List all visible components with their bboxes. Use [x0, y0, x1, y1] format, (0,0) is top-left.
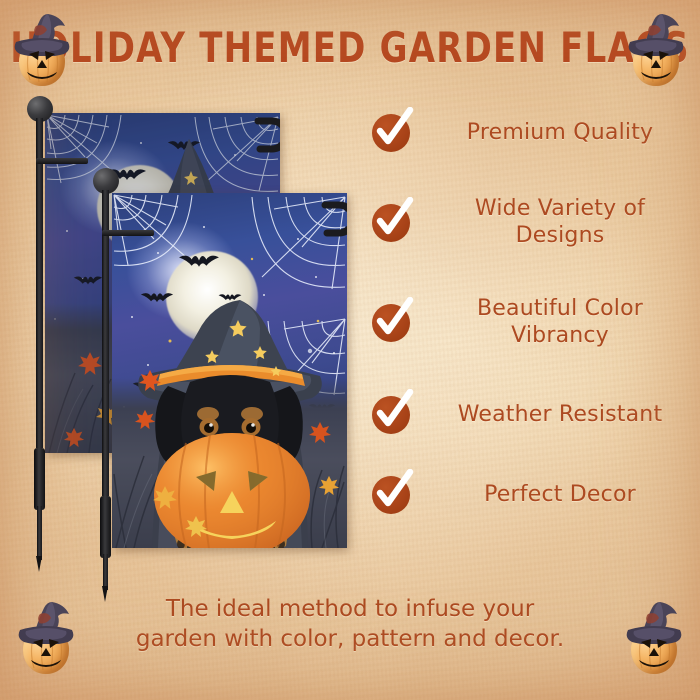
- jack-o-lantern-witch-hat-icon: [620, 12, 692, 92]
- check-mark-icon: [369, 389, 415, 435]
- check-mark-icon: [369, 297, 415, 343]
- check-circle-icon: [370, 474, 412, 516]
- jack-o-lantern-face: [633, 46, 679, 84]
- jack-o-lantern-witch-hat-icon: [618, 600, 690, 680]
- check-circle-icon: [370, 302, 412, 344]
- garden-flag-pole-front: [88, 168, 128, 588]
- jack-o-lantern-face: [19, 46, 65, 84]
- feature-label: Beautiful Color Vibrancy: [428, 296, 692, 350]
- pole-arm: [102, 230, 154, 236]
- check-circle-icon: [370, 202, 412, 244]
- pole-ground-grip: [34, 448, 45, 510]
- autumn-leaf-icon: [152, 485, 178, 511]
- check-mark-icon: [369, 107, 415, 153]
- jack-o-lantern-face: [631, 634, 677, 672]
- bat-icon: [178, 251, 220, 270]
- footer-line-2: garden with color, pattern and decor.: [64, 624, 636, 654]
- list-item: Perfect Decor: [370, 460, 692, 530]
- pole-tip: [36, 556, 42, 572]
- list-item: Weather Resistant: [370, 376, 692, 454]
- footer-caption: The ideal method to infuse your garden w…: [64, 594, 636, 655]
- check-circle-icon: [370, 112, 412, 154]
- autumn-leaf-icon: [318, 475, 340, 497]
- autumn-leaf-icon: [134, 409, 156, 431]
- footer-line-1: The ideal method to infuse your: [64, 594, 636, 624]
- feature-label: Weather Resistant: [428, 402, 692, 429]
- pole-shaft: [36, 118, 43, 448]
- flag-hanger-icon: [254, 115, 280, 159]
- garden-flag-pole-back: [22, 96, 62, 566]
- check-circle-icon: [370, 394, 412, 436]
- check-mark-icon: [369, 197, 415, 243]
- feature-label: Perfect Decor: [428, 482, 692, 509]
- jack-o-lantern-witch-hat-icon: [6, 12, 78, 92]
- jack-o-lantern-face: [23, 634, 69, 672]
- pole-ground-grip: [100, 496, 111, 558]
- pole-tip: [102, 586, 108, 602]
- autumn-leaf-icon: [138, 369, 162, 393]
- autumn-leaf-icon: [308, 421, 332, 445]
- feature-label: Premium Quality: [428, 120, 692, 147]
- pole-lower-shaft: [37, 506, 42, 560]
- check-mark-icon: [369, 469, 415, 515]
- autumn-leaf-icon: [184, 515, 208, 539]
- list-item: Premium Quality: [370, 96, 692, 170]
- feature-label: Wide Variety of Designs: [428, 196, 692, 250]
- feature-list: Premium Quality Wide Variety of Designs …: [370, 96, 692, 536]
- list-item: Wide Variety of Designs: [370, 176, 692, 270]
- garden-flag-front: [112, 193, 347, 548]
- flag-hanger-icon: [321, 199, 347, 243]
- jack-o-lantern-witch-hat-icon: [10, 600, 82, 680]
- pole-arm: [36, 158, 88, 164]
- promo-banner: HOLIDAY THEMED GARDEN FLAGS: [0, 0, 700, 700]
- list-item: Beautiful Color Vibrancy: [370, 276, 692, 370]
- pole-lower-shaft: [103, 554, 108, 590]
